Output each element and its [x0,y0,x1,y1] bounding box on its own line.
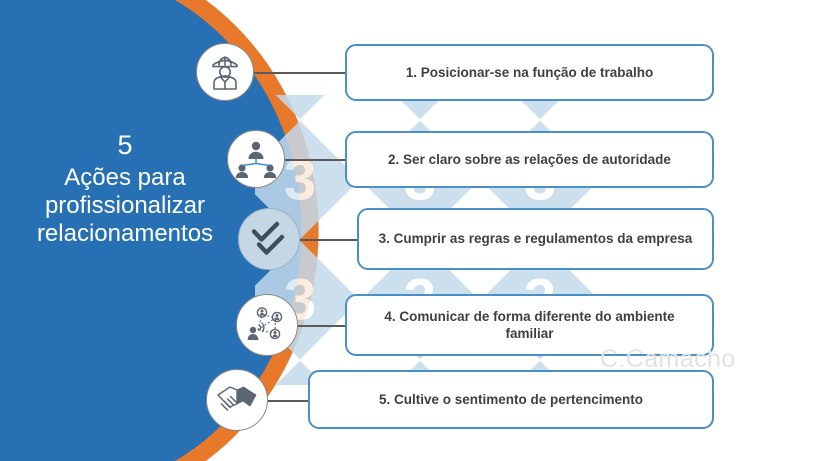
step-icon-circle-4[interactable] [236,294,298,356]
step-box-1[interactable]: 1. Posicionar-se na função de trabalho [345,44,714,101]
connector-line-2 [285,159,345,161]
title-line-1: Ações para [0,164,250,192]
infographic-canvas: 3 5 Ações para profissionalizar relacion… [0,0,820,461]
connector-line-3 [300,239,357,241]
communication-network-icon [244,303,290,347]
handshake-icon [215,379,259,421]
connector-line-4 [298,325,345,327]
connector-line-5 [268,400,308,402]
step-box-2[interactable]: 2. Ser claro sobre as relações de autori… [345,131,714,188]
step-icon-circle-3[interactable] [238,208,300,270]
hard-hat-worker-icon [205,52,245,92]
title-number: 5 [0,130,250,162]
title-line-2: profissionalizar [0,192,250,220]
title-line-3: relacionamentos [0,220,250,248]
connector-line-1 [254,72,345,74]
step-icon-circle-1[interactable] [196,43,254,101]
signature-watermark: C.Camacho [600,345,736,374]
step-icon-circle-2[interactable] [227,130,285,188]
double-check-icon [247,217,291,261]
step-box-3[interactable]: 3. Cumprir as regras e regulamentos da e… [357,208,714,270]
step-icon-circle-5[interactable] [206,369,268,431]
title-block: 5 Ações para profissionalizar relacionam… [0,130,250,249]
org-hierarchy-icon [235,139,277,179]
step-box-5[interactable]: 5. Cultive o sentimento de pertencimento [308,370,714,429]
